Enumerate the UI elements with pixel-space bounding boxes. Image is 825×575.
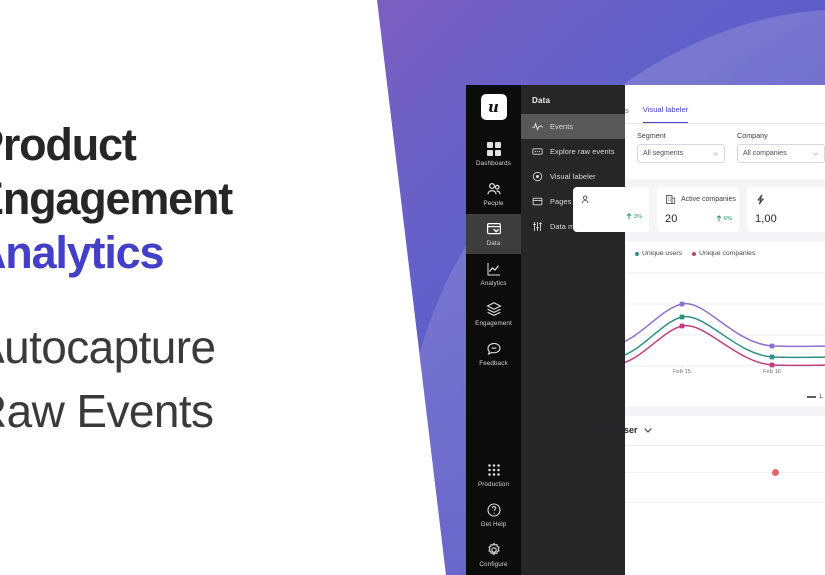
flyout-item-events[interactable]: Events: [521, 114, 625, 139]
legend-item-unique-companies[interactable]: Unique companies: [692, 250, 755, 257]
x-tick-label: Feb 16: [763, 369, 781, 375]
bolt-icon: [755, 194, 766, 205]
card-title: Active companies: [681, 196, 736, 203]
scatter-point[interactable]: [772, 469, 779, 476]
flyout-item-label: Explore raw events: [550, 147, 615, 156]
flyout-item-label: Pages: [550, 197, 571, 206]
pages-icon: [532, 196, 543, 207]
data-flyout-menu: Data Events Explore raw events: [521, 85, 625, 575]
rail-item-label: Data: [487, 240, 501, 248]
card-foot: 3%: [581, 213, 642, 220]
card-delta-value: 6%: [724, 216, 732, 222]
x-tick-label: Feb 15: [673, 369, 691, 375]
tab-bar: s Visual labeler: [625, 85, 825, 124]
rail-item-label: Feedback: [479, 360, 507, 368]
headline-line-3: Analytics: [0, 226, 374, 280]
arrow-up-icon: [626, 213, 632, 220]
apps-grid-icon: [486, 462, 502, 478]
sliders-icon: [532, 221, 543, 232]
rail-item-feedback[interactable]: Feedback: [466, 334, 521, 374]
rail-item-label: Configure: [479, 561, 507, 569]
lower-panel-header[interactable]: ce by user: [593, 425, 825, 435]
headline-line-2: Engagement: [0, 172, 374, 226]
segment-select[interactable]: All segments: [637, 144, 725, 163]
flyout-item-label: Events: [550, 122, 573, 131]
secondary-legend: L: [625, 391, 825, 406]
filter-company: Company All companies: [737, 131, 825, 179]
tab-truncated[interactable]: s: [625, 106, 629, 123]
chevron-down-icon[interactable]: [643, 425, 653, 435]
lower-panel: ce by user: [625, 416, 825, 516]
legend-dash-label: L: [819, 393, 823, 400]
raw-events-icon: [532, 146, 543, 157]
scatter-gridline: [625, 472, 825, 473]
legend-label: Unique companies: [699, 250, 755, 257]
data-window-icon: [486, 221, 502, 237]
rail-item-label: People: [483, 200, 503, 208]
metric-cards: 3% Active companies 20: [625, 179, 825, 242]
screenshot-stage: Product Engagement Analytics Autocapture…: [0, 0, 825, 575]
legend-swatch: [692, 252, 696, 256]
flyout-item-explore-raw-events[interactable]: Explore raw events: [521, 139, 625, 164]
building-icon: [665, 194, 676, 205]
lower-panel-title: ce by user: [593, 425, 638, 435]
dashboard-content: s Visual labeler Segment All segments Co…: [625, 85, 825, 575]
users-icon: [581, 194, 592, 205]
filter-label: Company: [737, 131, 825, 140]
legend-label: Unique users: [642, 250, 682, 257]
chevron-down-icon: [812, 150, 819, 157]
pulse-icon: [532, 121, 543, 132]
layers-icon: [486, 301, 502, 317]
scatter-plot: [625, 445, 825, 516]
rail-item-engagement[interactable]: Engagement: [466, 294, 521, 334]
subhead-line-2: Raw Events: [0, 382, 374, 440]
series-line-total-sessions: [625, 304, 825, 347]
grid-icon: [486, 141, 502, 157]
rail-item-label: Production: [478, 481, 509, 489]
card-foot: 20 6%: [665, 213, 732, 225]
app-logo[interactable]: u: [481, 94, 507, 120]
line-chart-plot: Feb 15 Feb 16: [625, 261, 825, 391]
card-value: 20: [665, 213, 677, 225]
chart-legend: Unique users Unique companies: [625, 250, 825, 261]
series-line-unique-companies: [625, 326, 825, 366]
chevron-down-icon: [712, 150, 719, 157]
legend-swatch: [635, 252, 639, 256]
metric-card-3[interactable]: 1,00: [747, 187, 825, 232]
card-head: [755, 194, 822, 205]
rail-item-data[interactable]: Data: [466, 214, 521, 254]
filter-segment: Segment All segments: [637, 131, 725, 179]
series-line-unique-users: [625, 317, 825, 358]
question-circle-icon: [486, 502, 502, 518]
metric-card-1[interactable]: 3%: [573, 187, 649, 232]
rail-item-people[interactable]: People: [466, 174, 521, 214]
rail-item-label: Get Help: [481, 521, 507, 529]
rail-item-get-help[interactable]: Get Help: [466, 495, 521, 535]
primary-nav-rail: u Dashboards People: [466, 85, 521, 575]
people-icon: [486, 181, 502, 197]
headline-line-1: Product: [0, 118, 374, 172]
rail-item-dashboards[interactable]: Dashboards: [466, 134, 521, 174]
trend-chart-card: Unique users Unique companies: [625, 242, 825, 406]
metric-card-active-companies[interactable]: Active companies 20 6%: [657, 187, 739, 232]
flyout-item-label: Visual labeler: [550, 172, 596, 181]
rail-item-label: Analytics: [480, 280, 506, 288]
card-delta-value: 3%: [634, 214, 642, 220]
section-divider: [625, 406, 825, 416]
card-value: 1,00: [755, 213, 777, 225]
flyout-title: Data: [521, 85, 625, 114]
x-axis-labels: Feb 15 Feb 16: [625, 369, 825, 381]
rail-item-configure[interactable]: Configure: [466, 535, 521, 575]
gear-icon: [486, 542, 502, 558]
subhead-line-1: Autocapture: [0, 318, 374, 376]
rail-item-analytics[interactable]: Analytics: [466, 254, 521, 294]
rail-item-label: Engagement: [475, 320, 512, 328]
tab-visual-labeler[interactable]: Visual labeler: [643, 105, 688, 123]
line-chart-icon: [486, 261, 502, 277]
card-head: Active companies: [665, 194, 732, 205]
legend-dash-swatch: [807, 396, 816, 398]
marketing-copy: Product Engagement Analytics Autocapture…: [0, 118, 374, 440]
card-foot: 1,00: [755, 213, 822, 225]
chat-bubble-icon: [486, 341, 502, 357]
segment-select-value: All segments: [643, 150, 683, 157]
scatter-gridline: [625, 502, 825, 503]
card-head: [581, 194, 642, 205]
arrow-up-icon: [716, 215, 722, 222]
filter-bar: Segment All segments Company All compani…: [625, 124, 825, 179]
filter-label: Segment: [637, 131, 725, 140]
rail-item-label: Dashboards: [476, 160, 511, 168]
app-window: u Dashboards People: [466, 85, 825, 575]
rail-item-production[interactable]: Production: [466, 455, 521, 495]
target-icon: [532, 171, 543, 182]
card-delta: 3%: [626, 213, 642, 220]
card-delta: 6%: [716, 215, 732, 222]
company-select[interactable]: All companies: [737, 144, 825, 163]
legend-item-unique-users[interactable]: Unique users: [635, 250, 682, 257]
company-select-value: All companies: [743, 150, 787, 157]
flyout-item-visual-labeler[interactable]: Visual labeler: [521, 164, 625, 189]
